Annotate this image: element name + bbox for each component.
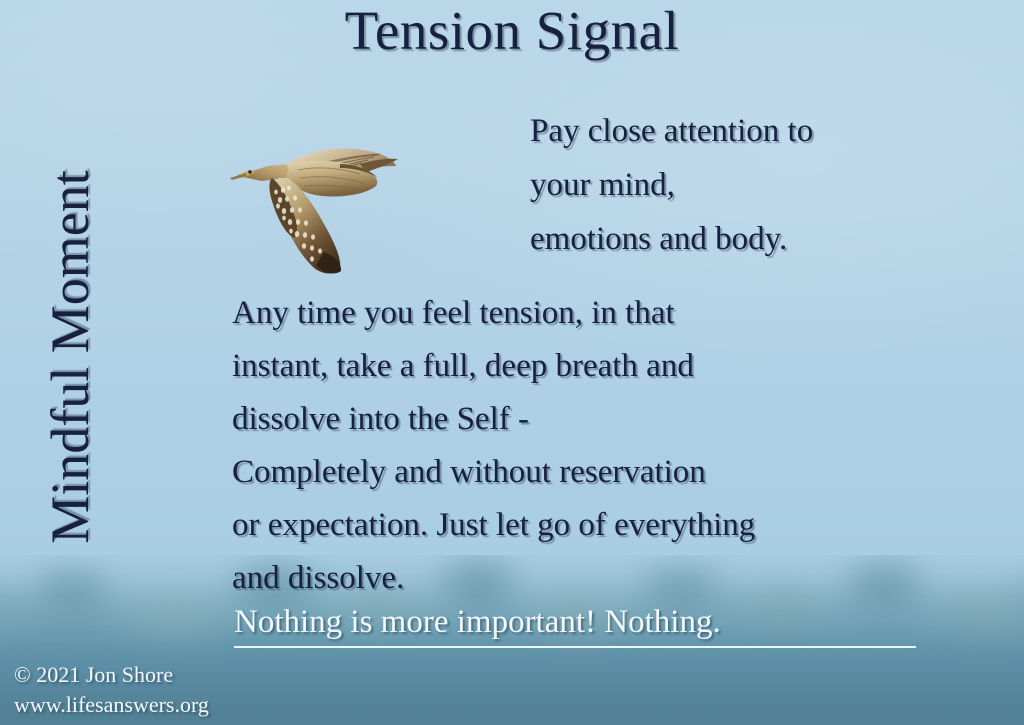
body-line: and dissolve. bbox=[232, 552, 992, 605]
website-line[interactable]: www.lifesanswers.org bbox=[14, 690, 209, 720]
body-line: instant, take a full, deep breath and bbox=[232, 340, 992, 393]
mindful-moment-poster: Tension Signal Mindful Moment bbox=[0, 0, 1024, 725]
copyright-credit: © 2021 Jon Shore www.lifesanswers.org bbox=[14, 660, 209, 720]
intro-line: emotions and body. bbox=[530, 212, 950, 266]
body-line: Completely and without reservation bbox=[232, 446, 992, 499]
body-line: Any time you feel tension, in that bbox=[232, 287, 992, 340]
body-line: dissolve into the Self - bbox=[232, 393, 992, 446]
body-text-block: Any time you feel tension, in that insta… bbox=[232, 287, 992, 605]
copyright-line: © 2021 Jon Shore bbox=[14, 660, 209, 690]
intro-text-block: Pay close attention to your mind, emotio… bbox=[530, 104, 950, 266]
body-line: or expectation. Just let go of everythin… bbox=[232, 499, 992, 552]
flying-bittern-icon bbox=[228, 128, 400, 290]
emphasis-line: Nothing is more important! Nothing. bbox=[234, 600, 916, 648]
intro-line: Pay close attention to bbox=[530, 104, 950, 158]
page-title: Tension Signal bbox=[0, 2, 1024, 60]
vertical-series-label: Mindful Moment bbox=[43, 97, 97, 617]
intro-line: your mind, bbox=[530, 158, 950, 212]
